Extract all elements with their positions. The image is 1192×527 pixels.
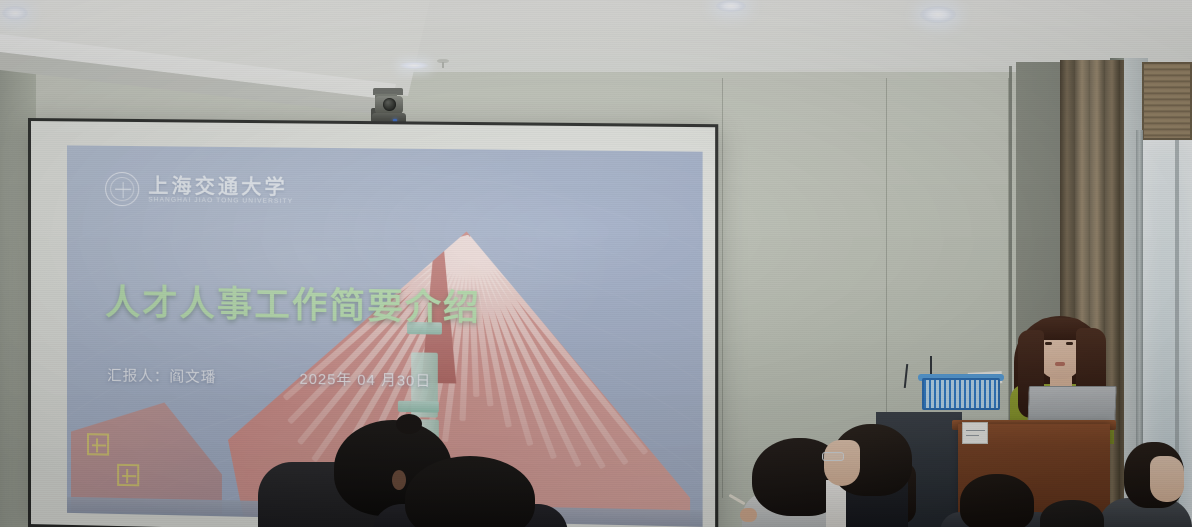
strip-light-icon [400, 62, 428, 69]
window-blinds [1142, 62, 1192, 140]
sjtu-seal-icon [105, 172, 139, 206]
sjtu-logo-english: SHANGHAI JIAO TONG UNIVERSITY [148, 197, 293, 205]
recessed-downlight-icon [716, 0, 746, 12]
recessed-downlight-icon [920, 6, 956, 23]
conference-room-photo: 上海交通大学 SHANGHAI JIAO TONG UNIVERSITY 人才人… [0, 0, 1192, 527]
glasses-icon [822, 452, 844, 461]
audience-face [824, 440, 860, 486]
audience-member-right [960, 474, 1034, 527]
wall-panel-seam [722, 78, 723, 498]
audience-face [1150, 456, 1184, 502]
audience-hand [740, 508, 757, 522]
podium-name-card [962, 422, 988, 444]
audience-hair-bun [396, 414, 422, 434]
audience-ear [392, 470, 406, 490]
smoke-detector-icon [437, 59, 449, 68]
sjtu-logo: 上海交通大学 SHANGHAI JIAO TONG UNIVERSITY [105, 172, 293, 208]
slide-title: 人才人事工作简要介绍 [105, 274, 481, 331]
sjtu-logo-chinese: 上海交通大学 [148, 175, 293, 197]
recessed-downlight-icon [2, 6, 28, 20]
blue-storage-basket [922, 378, 1000, 410]
slide-date-label: 2025年 04 月30日 [299, 368, 431, 392]
slide-presenter-label: 汇报人：阎文璠 [107, 364, 216, 387]
camera-lens-icon [383, 98, 396, 111]
